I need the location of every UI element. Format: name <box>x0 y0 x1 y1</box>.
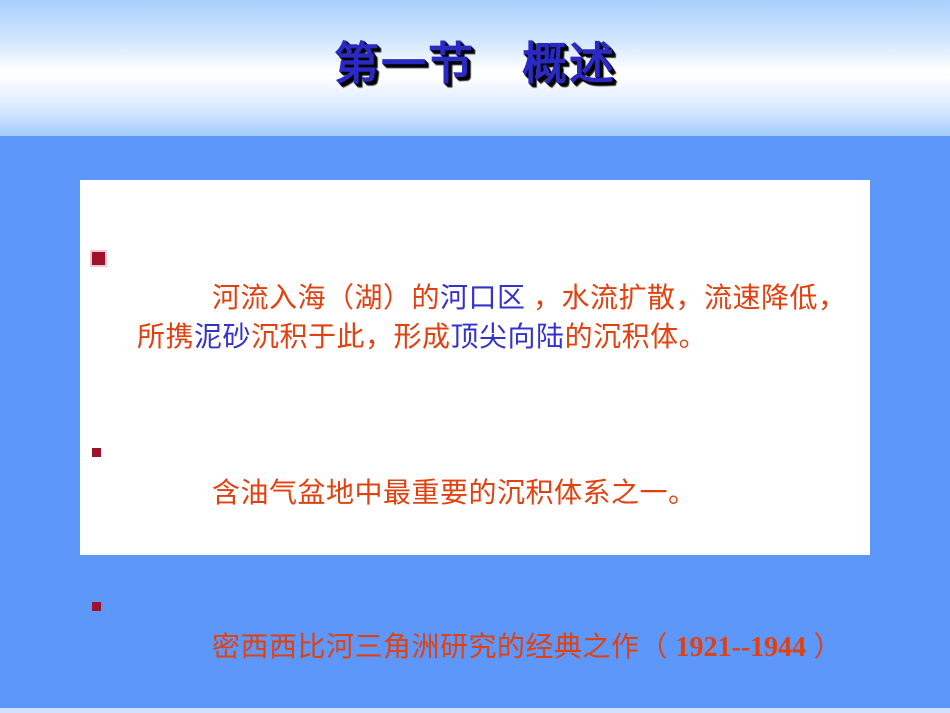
text-segment: ） <box>806 632 842 663</box>
bullet-text-2: 密西西比河三角洲研究的经典之作（ 1921--1944 ） <box>137 589 870 706</box>
bullet-text-1: 含油气盆地中最重要的沉积体系之一。 <box>137 435 870 552</box>
text-segment: 沉积于此，形成 <box>251 322 451 353</box>
text-segment: 密西西比河三角洲研究的经典之作（ <box>212 632 676 663</box>
header-band <box>0 0 950 136</box>
bottom-strip <box>0 708 950 713</box>
list-item: 河流入海（湖）的河口区 ，水流扩散，流速降低，所携泥砂沉积于此，形成顶尖向陆的沉… <box>80 180 870 396</box>
text-segment-highlight: 泥砂 <box>194 322 251 353</box>
text-segment-highlight: 顶尖向陆 <box>451 322 565 353</box>
content-panel: 河流入海（湖）的河口区 ，水流扩散，流速降低，所携泥砂沉积于此，形成顶尖向陆的沉… <box>80 180 870 555</box>
text-segment: 河流入海（湖）的 <box>212 283 440 314</box>
list-item: 密西西比河三角洲研究的经典之作（ 1921--1944 ） <box>80 552 870 706</box>
list-item: 含油气盆地中最重要的沉积体系之一。 <box>80 396 870 552</box>
bullet-square-icon <box>92 602 101 611</box>
text-segment: 的沉积体。 <box>565 322 708 353</box>
bullet-square-icon <box>92 252 105 265</box>
year-range: 1921--1944 <box>676 632 807 663</box>
text-segment-highlight: 河口区 <box>440 283 526 314</box>
bullet-text-0: 河流入海（湖）的河口区 ，水流扩散，流速降低，所携泥砂沉积于此，形成顶尖向陆的沉… <box>137 240 870 396</box>
bullet-list: 河流入海（湖）的河口区 ，水流扩散，流速降低，所携泥砂沉积于此，形成顶尖向陆的沉… <box>80 180 870 706</box>
bullet-square-icon <box>92 448 101 457</box>
text-segment: 含油气盆地中最重要的沉积体系之一。 <box>212 478 697 509</box>
slide: 第一节 概述 河流入海（湖）的河口区 ，水流扩散，流速降低，所携泥砂沉积于此，形… <box>0 0 950 713</box>
